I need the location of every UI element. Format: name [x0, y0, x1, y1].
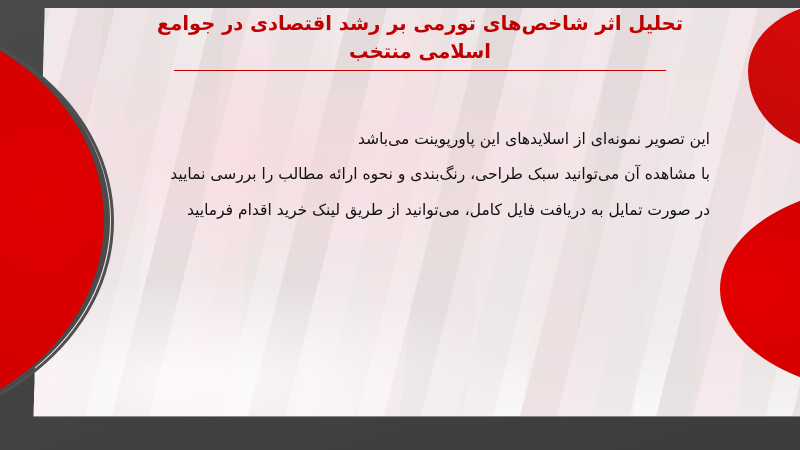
slide-body-block: این تصویر نمونه‌ای از اسلایدهای این پاور…: [120, 122, 710, 228]
body-line-1: این تصویر نمونه‌ای از اسلایدهای این پاور…: [120, 122, 710, 157]
bottom-left-sliver: [0, 414, 120, 436]
body-line-2: با مشاهده آن می‌توانید سبک طراحی، رنگ‌بن…: [120, 157, 710, 192]
slide-title-block: تحلیل اثر شاخص‌های تورمی بر رشد اقتصادی …: [120, 10, 720, 71]
body-line-3: در صورت تمایل به دریافت فایل کامل، می‌تو…: [120, 193, 710, 228]
presentation-slide: تحلیل اثر شاخص‌های تورمی بر رشد اقتصادی …: [0, 0, 800, 450]
title-divider: [174, 70, 666, 71]
slide-title: تحلیل اثر شاخص‌های تورمی بر رشد اقتصادی …: [120, 10, 720, 65]
